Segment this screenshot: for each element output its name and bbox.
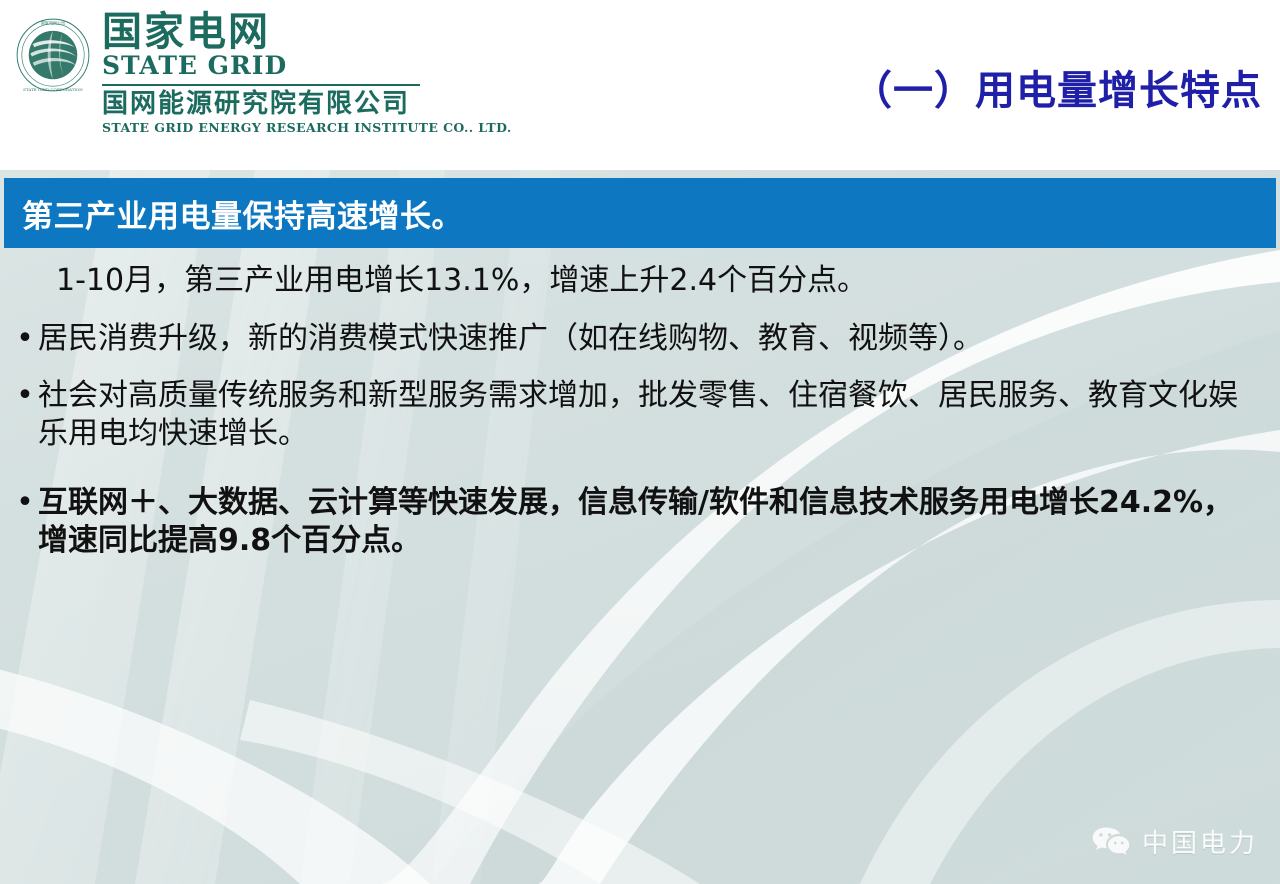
- logo-chinese-name: 国家电网: [102, 12, 512, 53]
- section-title: （一）用电量增长特点: [852, 58, 1262, 116]
- wechat-watermark: 中国电力: [1090, 823, 1258, 860]
- watermark-label: 中国电力: [1142, 823, 1258, 860]
- list-item: • 社会对高质量传统服务和新型服务需求增加，批发零售、住宿餐饮、居民服务、教育文…: [12, 377, 1256, 454]
- bullet-text: 居民消费升级，新的消费模式快速推广（如在线购物、教育、视频等）。: [38, 320, 1256, 358]
- logo-divider: [102, 84, 420, 86]
- bullet-marker: •: [12, 484, 38, 522]
- presentation-slide: 国家电网公司 STATE GRID CORPORATION 国家电网 STATE…: [0, 0, 1280, 884]
- state-grid-globe-emblem: 国家电网公司 STATE GRID CORPORATION: [14, 16, 92, 94]
- list-item: • 互联网＋、大数据、云计算等快速发展，信息传输/软件和信息技术服务用电增长24…: [12, 484, 1256, 561]
- banner-heading: 第三产业用电量保持高速增长。: [22, 191, 463, 236]
- slide-header: 国家电网公司 STATE GRID CORPORATION 国家电网 STATE…: [0, 0, 1280, 170]
- logo-english-name: STATE GRID: [102, 52, 512, 80]
- bullet-marker: •: [12, 320, 38, 358]
- svg-text:国家电网公司: 国家电网公司: [41, 20, 65, 26]
- institute-english-name: STATE GRID ENERGY RESEARCH INSTITUTE CO.…: [102, 120, 512, 135]
- list-item: • 居民消费升级，新的消费模式快速推广（如在线购物、教育、视频等）。: [12, 320, 1256, 358]
- wechat-icon: [1090, 825, 1132, 859]
- slide-body: 1-10月，第三产业用电增长13.1%，增速上升2.4个百分点。 • 居民消费升…: [0, 262, 1280, 574]
- institute-chinese-name: 国网能源研究院有限公司: [102, 90, 512, 119]
- lead-paragraph: 1-10月，第三产业用电增长13.1%，增速上升2.4个百分点。: [56, 262, 1280, 300]
- bullet-text: 社会对高质量传统服务和新型服务需求增加，批发零售、住宿餐饮、居民服务、教育文化娱…: [38, 377, 1256, 454]
- svg-text:STATE GRID CORPORATION: STATE GRID CORPORATION: [23, 87, 83, 92]
- bullet-text: 互联网＋、大数据、云计算等快速发展，信息传输/软件和信息技术服务用电增长24.2…: [38, 484, 1256, 561]
- section-banner: 第三产业用电量保持高速增长。: [4, 178, 1276, 248]
- state-grid-logo: 国家电网公司 STATE GRID CORPORATION 国家电网 STATE…: [14, 12, 512, 135]
- bullet-marker: •: [12, 377, 38, 415]
